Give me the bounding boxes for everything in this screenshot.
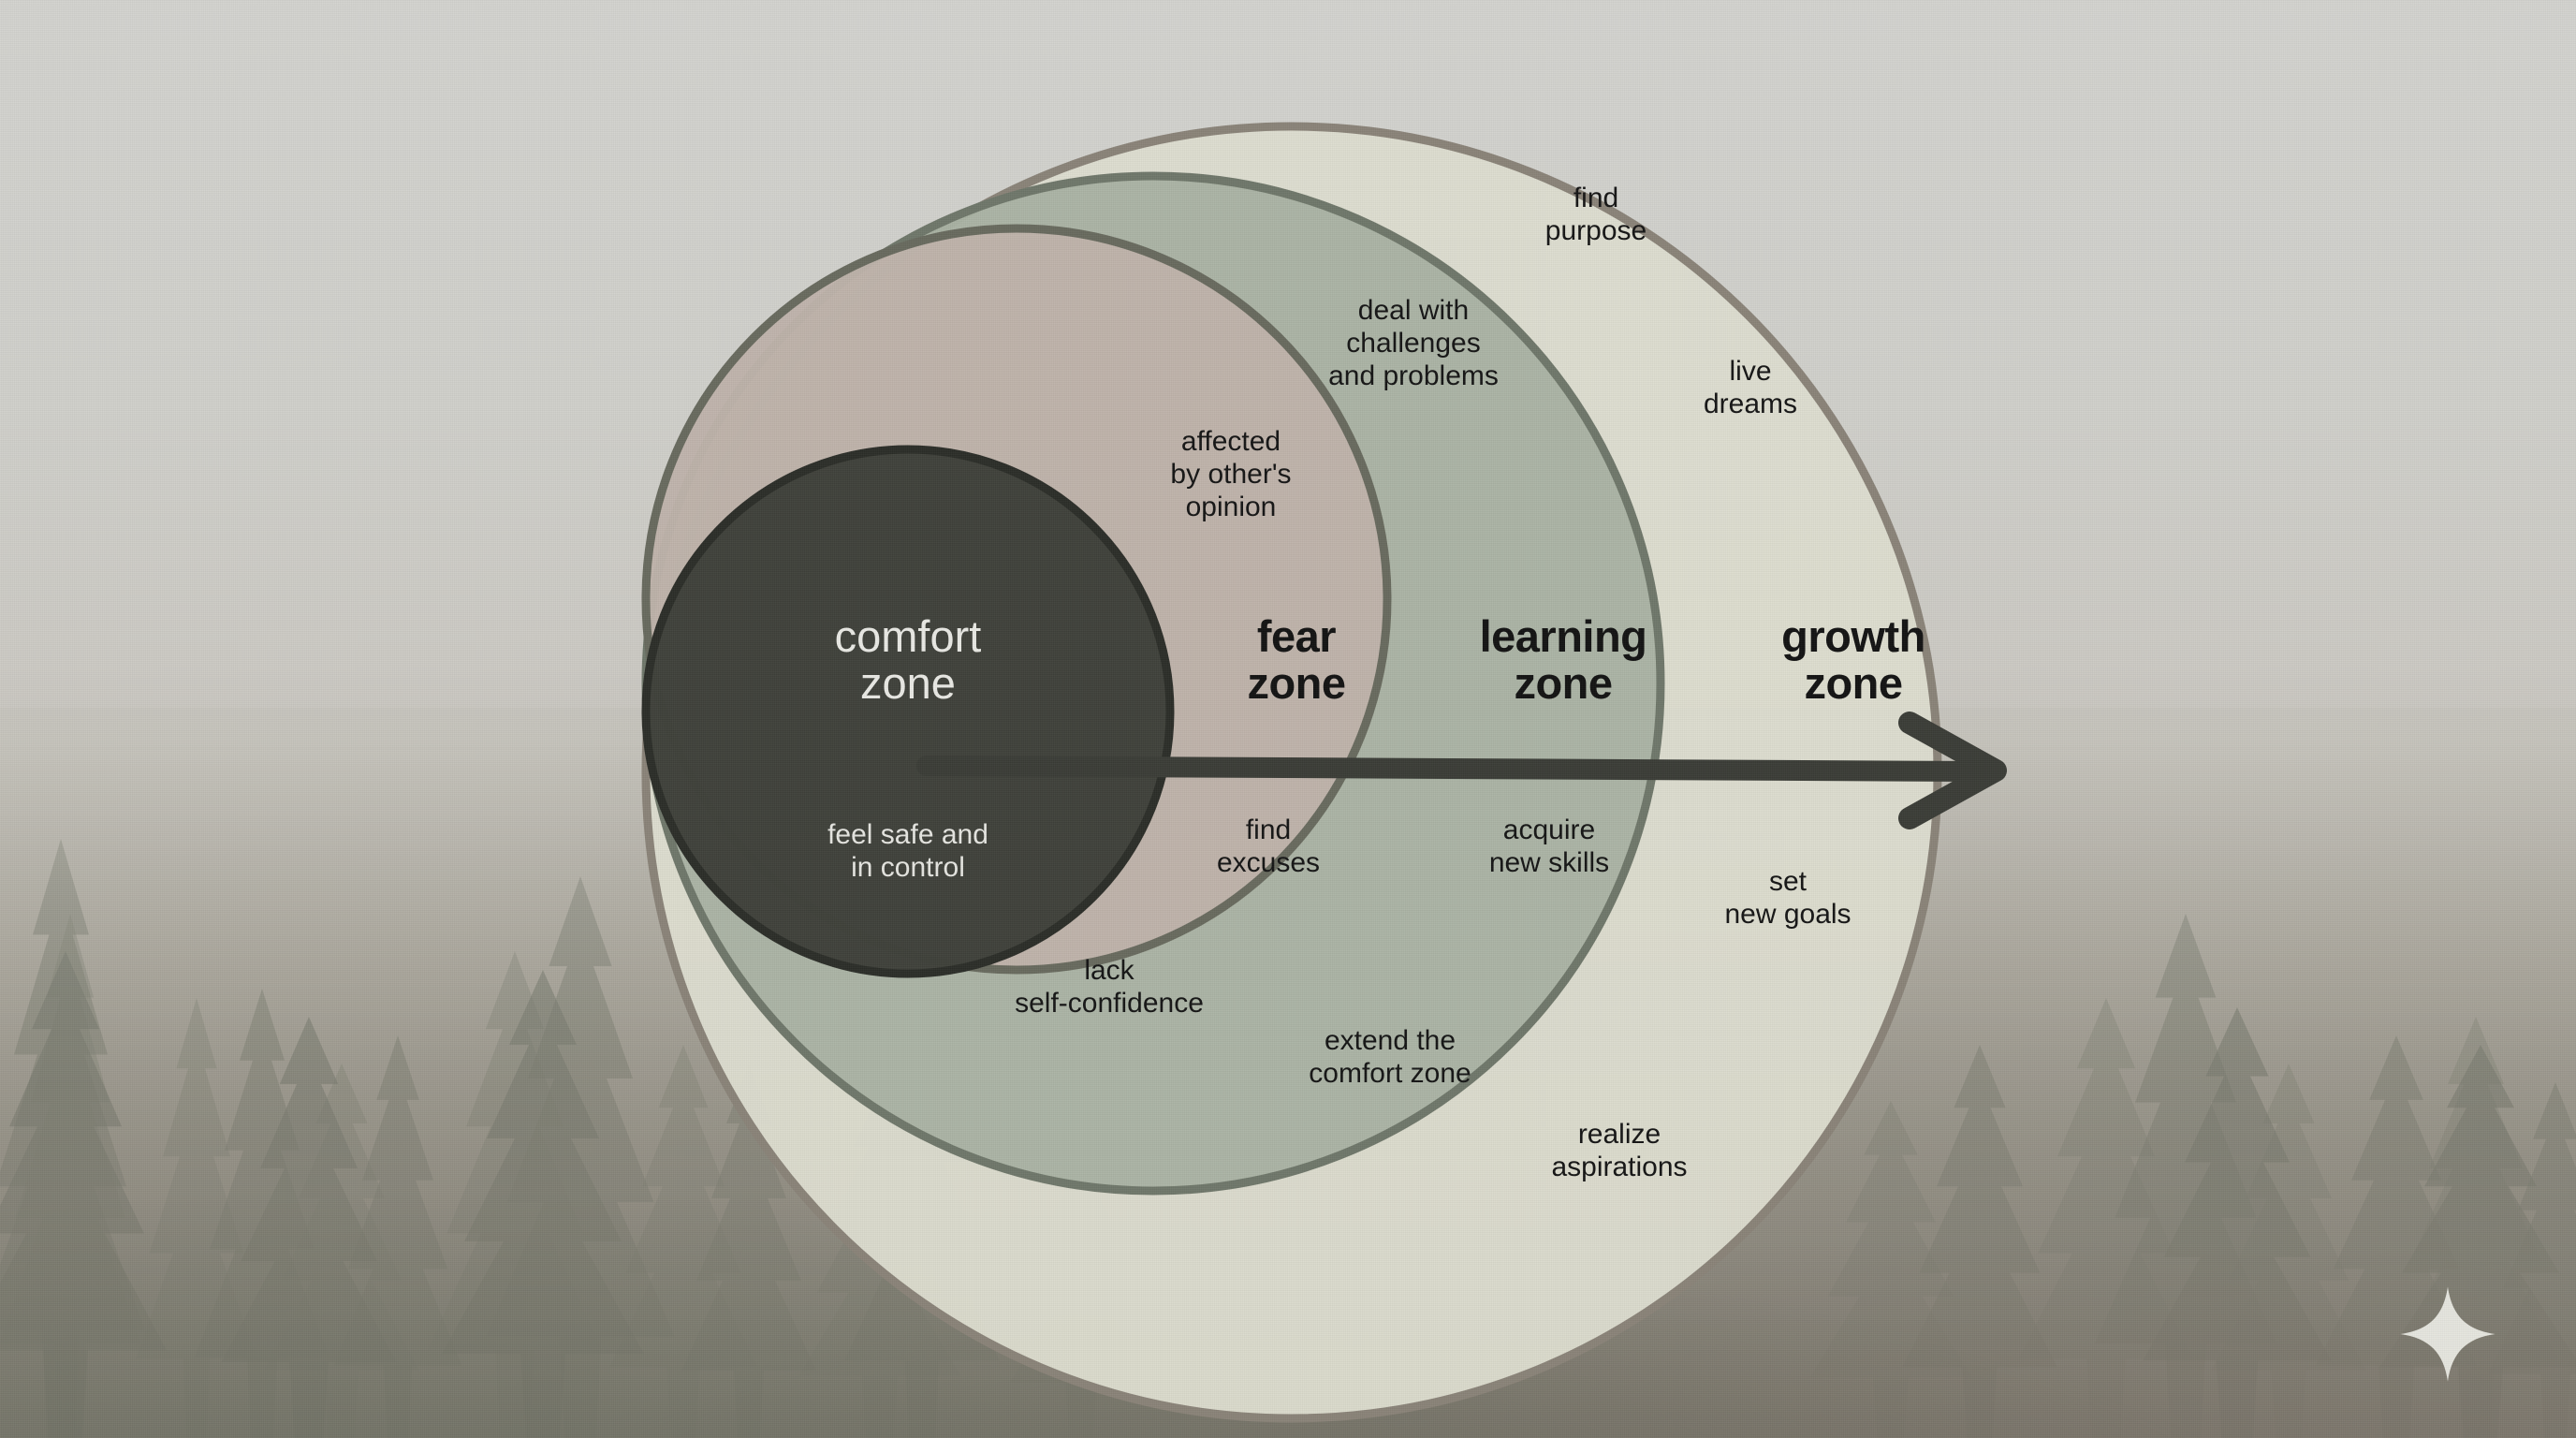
note-set-new-goals: set new goals <box>1661 866 1914 932</box>
comfort-zone-circle[interactable] <box>646 449 1170 974</box>
zone-title-growth: growth zone <box>1708 613 1998 707</box>
note-acquire-new-skills: acquire new skills <box>1423 814 1676 880</box>
note-extend-the-comfort-zone: extend the comfort zone <box>1236 1025 1544 1091</box>
zone-title-fear: fear zone <box>1189 613 1404 707</box>
arrow-shaft <box>927 766 1975 771</box>
note-realize-aspirations: realize aspirations <box>1488 1119 1750 1184</box>
note-affected-by-others-opinion: affected by other's opinion <box>1105 426 1357 523</box>
note-live-dreams: live dreams <box>1633 356 1867 421</box>
note-feel-safe: feel safe and in control <box>739 819 1076 885</box>
screenshot-root: comfort zone fear zone learning zone gro… <box>0 0 2576 1438</box>
note-lack-self-confidence: lack self-confidence <box>955 955 1264 1020</box>
note-find-excuses: find excuses <box>1161 814 1376 880</box>
zone-diagram <box>0 0 2576 1438</box>
note-deal-with-challenges: deal with challenges and problems <box>1268 295 1559 392</box>
sparkle-icon <box>2396 1283 2499 1386</box>
zone-title-comfort: comfort zone <box>739 613 1076 707</box>
note-find-purpose: find purpose <box>1470 183 1722 248</box>
zone-title-learning: learning zone <box>1413 613 1713 707</box>
